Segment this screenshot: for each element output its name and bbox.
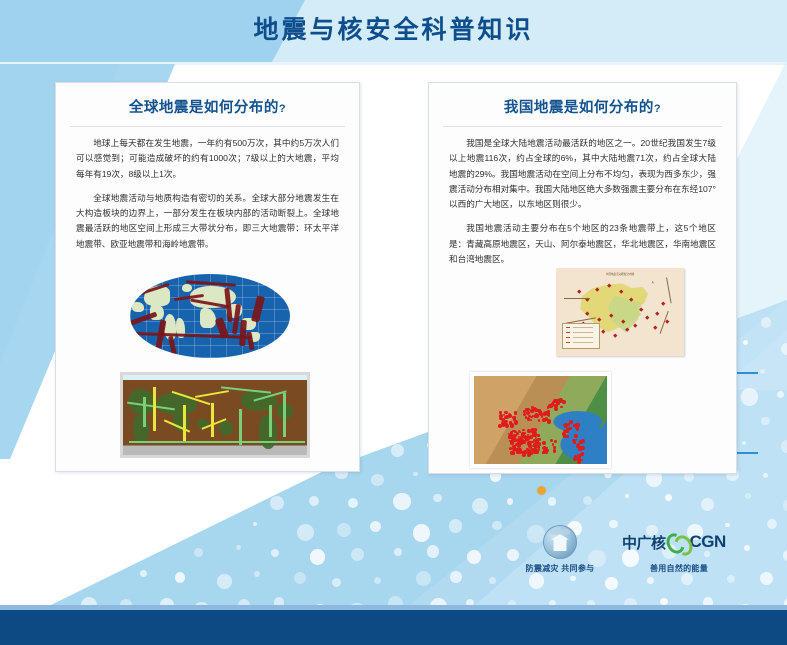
cgn-logo-cn: 中广核 (622, 532, 666, 553)
paragraph: 全球地震活动与地质构造有密切的关系。全球大部分地震发生在大构造板块的边界上，一部… (76, 191, 339, 252)
page-title: 地震与核安全科普知识 (0, 10, 787, 46)
card-title-global: 全球地震是如何分布的? (56, 83, 359, 126)
card-title-china: 我国地震是如何分布的? (429, 83, 736, 126)
cgn-logo-en: CGN (690, 532, 726, 552)
paragraph: 我国是全球大陆地震活动最活跃的地区之一。20世纪我国发生7级以上地震116次，约… (449, 136, 716, 212)
plate-relief (123, 375, 307, 455)
china-terrain (474, 376, 607, 464)
poster-canvas: 地震与核安全科普知识 全球地震是如何分布的? 地球上每天都在发生地震，一年约有5… (0, 0, 787, 645)
seal-slogan: 防震减灾 共同参与 (505, 563, 615, 574)
cgn-slogan: 善用自然的能量 (620, 563, 738, 574)
paragraph: 我国地震活动主要分布在5个地区的23条地震带上，这5个地区是：青藏高原地震区，天… (449, 221, 716, 267)
global-tectonic-plates-map (120, 372, 310, 458)
footer-bar (0, 610, 787, 645)
footer-logos: 防震减灾 共同参与 中广核 CGN 善用自然的能量 (0, 525, 787, 583)
world-earthquake-epicenter-map (122, 270, 298, 362)
earthquake-administration-seal-icon (543, 525, 577, 559)
china-seismic-zone-map: 中国地震活动断裂分布图 (556, 268, 684, 356)
cgn-logo: 中广核 CGN (622, 530, 734, 554)
map-legend (562, 323, 600, 349)
china-zone-map-caption: 中国地震活动断裂分布图 (556, 272, 684, 276)
card-title-china-text: 我国地震是如何分布的 (504, 100, 654, 116)
globe-ocean (130, 274, 290, 358)
card-body-global: 地球上每天都在发生地震，一年约有500万次，其中约5万次人们可以感觉到；可能造成… (56, 127, 359, 252)
card-title-china-mark: ? (654, 103, 661, 115)
card-title-global-text: 全球地震是如何分布的 (129, 100, 279, 116)
china-epicenter-terrain-map (470, 372, 611, 468)
paragraph: 地球上每天都在发生地震，一年约有500万次，其中约5万次人们可以感觉到；可能造成… (76, 136, 339, 182)
card-body-china: 我国是全球大陆地震活动最活跃的地区之一。20世纪我国发生7级以上地震116次，约… (429, 127, 736, 267)
card-title-global-mark: ? (279, 103, 286, 115)
cgn-swirl-icon (667, 533, 689, 551)
seal-highlight (550, 529, 570, 535)
